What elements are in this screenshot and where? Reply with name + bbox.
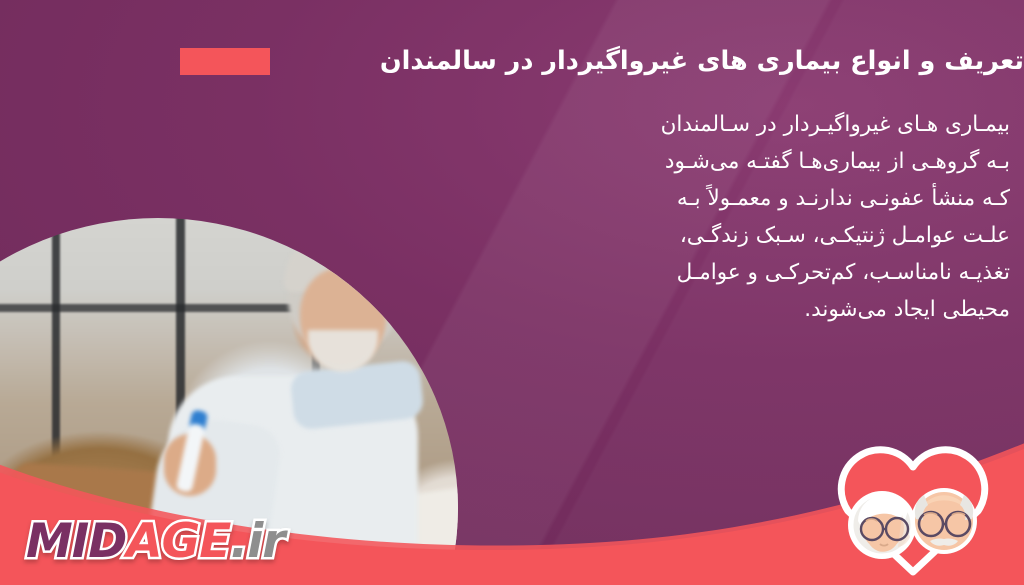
body-line: بـه گروهـی از بیماری‌هـا گفتـه می‌شـود bbox=[510, 143, 1010, 180]
title-accent-bar bbox=[180, 48, 270, 75]
logo-part-mid: MID bbox=[26, 514, 126, 569]
elderly-couple-heart-icon bbox=[818, 429, 1008, 579]
body-line: بیمـاری هـای غیرواگیـردار در سـالمندان bbox=[510, 106, 1010, 143]
title-row: تعریف و انواع بیماری های غیرواگیردار در … bbox=[180, 44, 1024, 78]
body-line: علـت عوامـل ژنتیکـی، سـبک زندگـی، bbox=[510, 217, 1010, 254]
body-line: تغذیـه نامناسـب، کم‌تحرکـی و عوامـل bbox=[510, 254, 1010, 291]
logo-part-age: AGE bbox=[126, 514, 230, 569]
body-line: محیطی ایجاد می‌شوند. bbox=[510, 291, 1010, 328]
site-logo[interactable]: MIDAGE.ir bbox=[26, 518, 285, 565]
page-title: تعریف و انواع بیماری های غیرواگیردار در … bbox=[270, 44, 1024, 78]
promotional-banner: تعریف و انواع بیماری های غیرواگیردار در … bbox=[0, 0, 1024, 585]
logo-part-tld: .ir bbox=[230, 514, 284, 569]
body-copy: بیمـاری هـای غیرواگیـردار در سـالمندان ب… bbox=[510, 106, 1010, 328]
body-line: کـه منشأ عفونـی ندارنـد و معمـولاً بـه bbox=[510, 180, 1010, 217]
